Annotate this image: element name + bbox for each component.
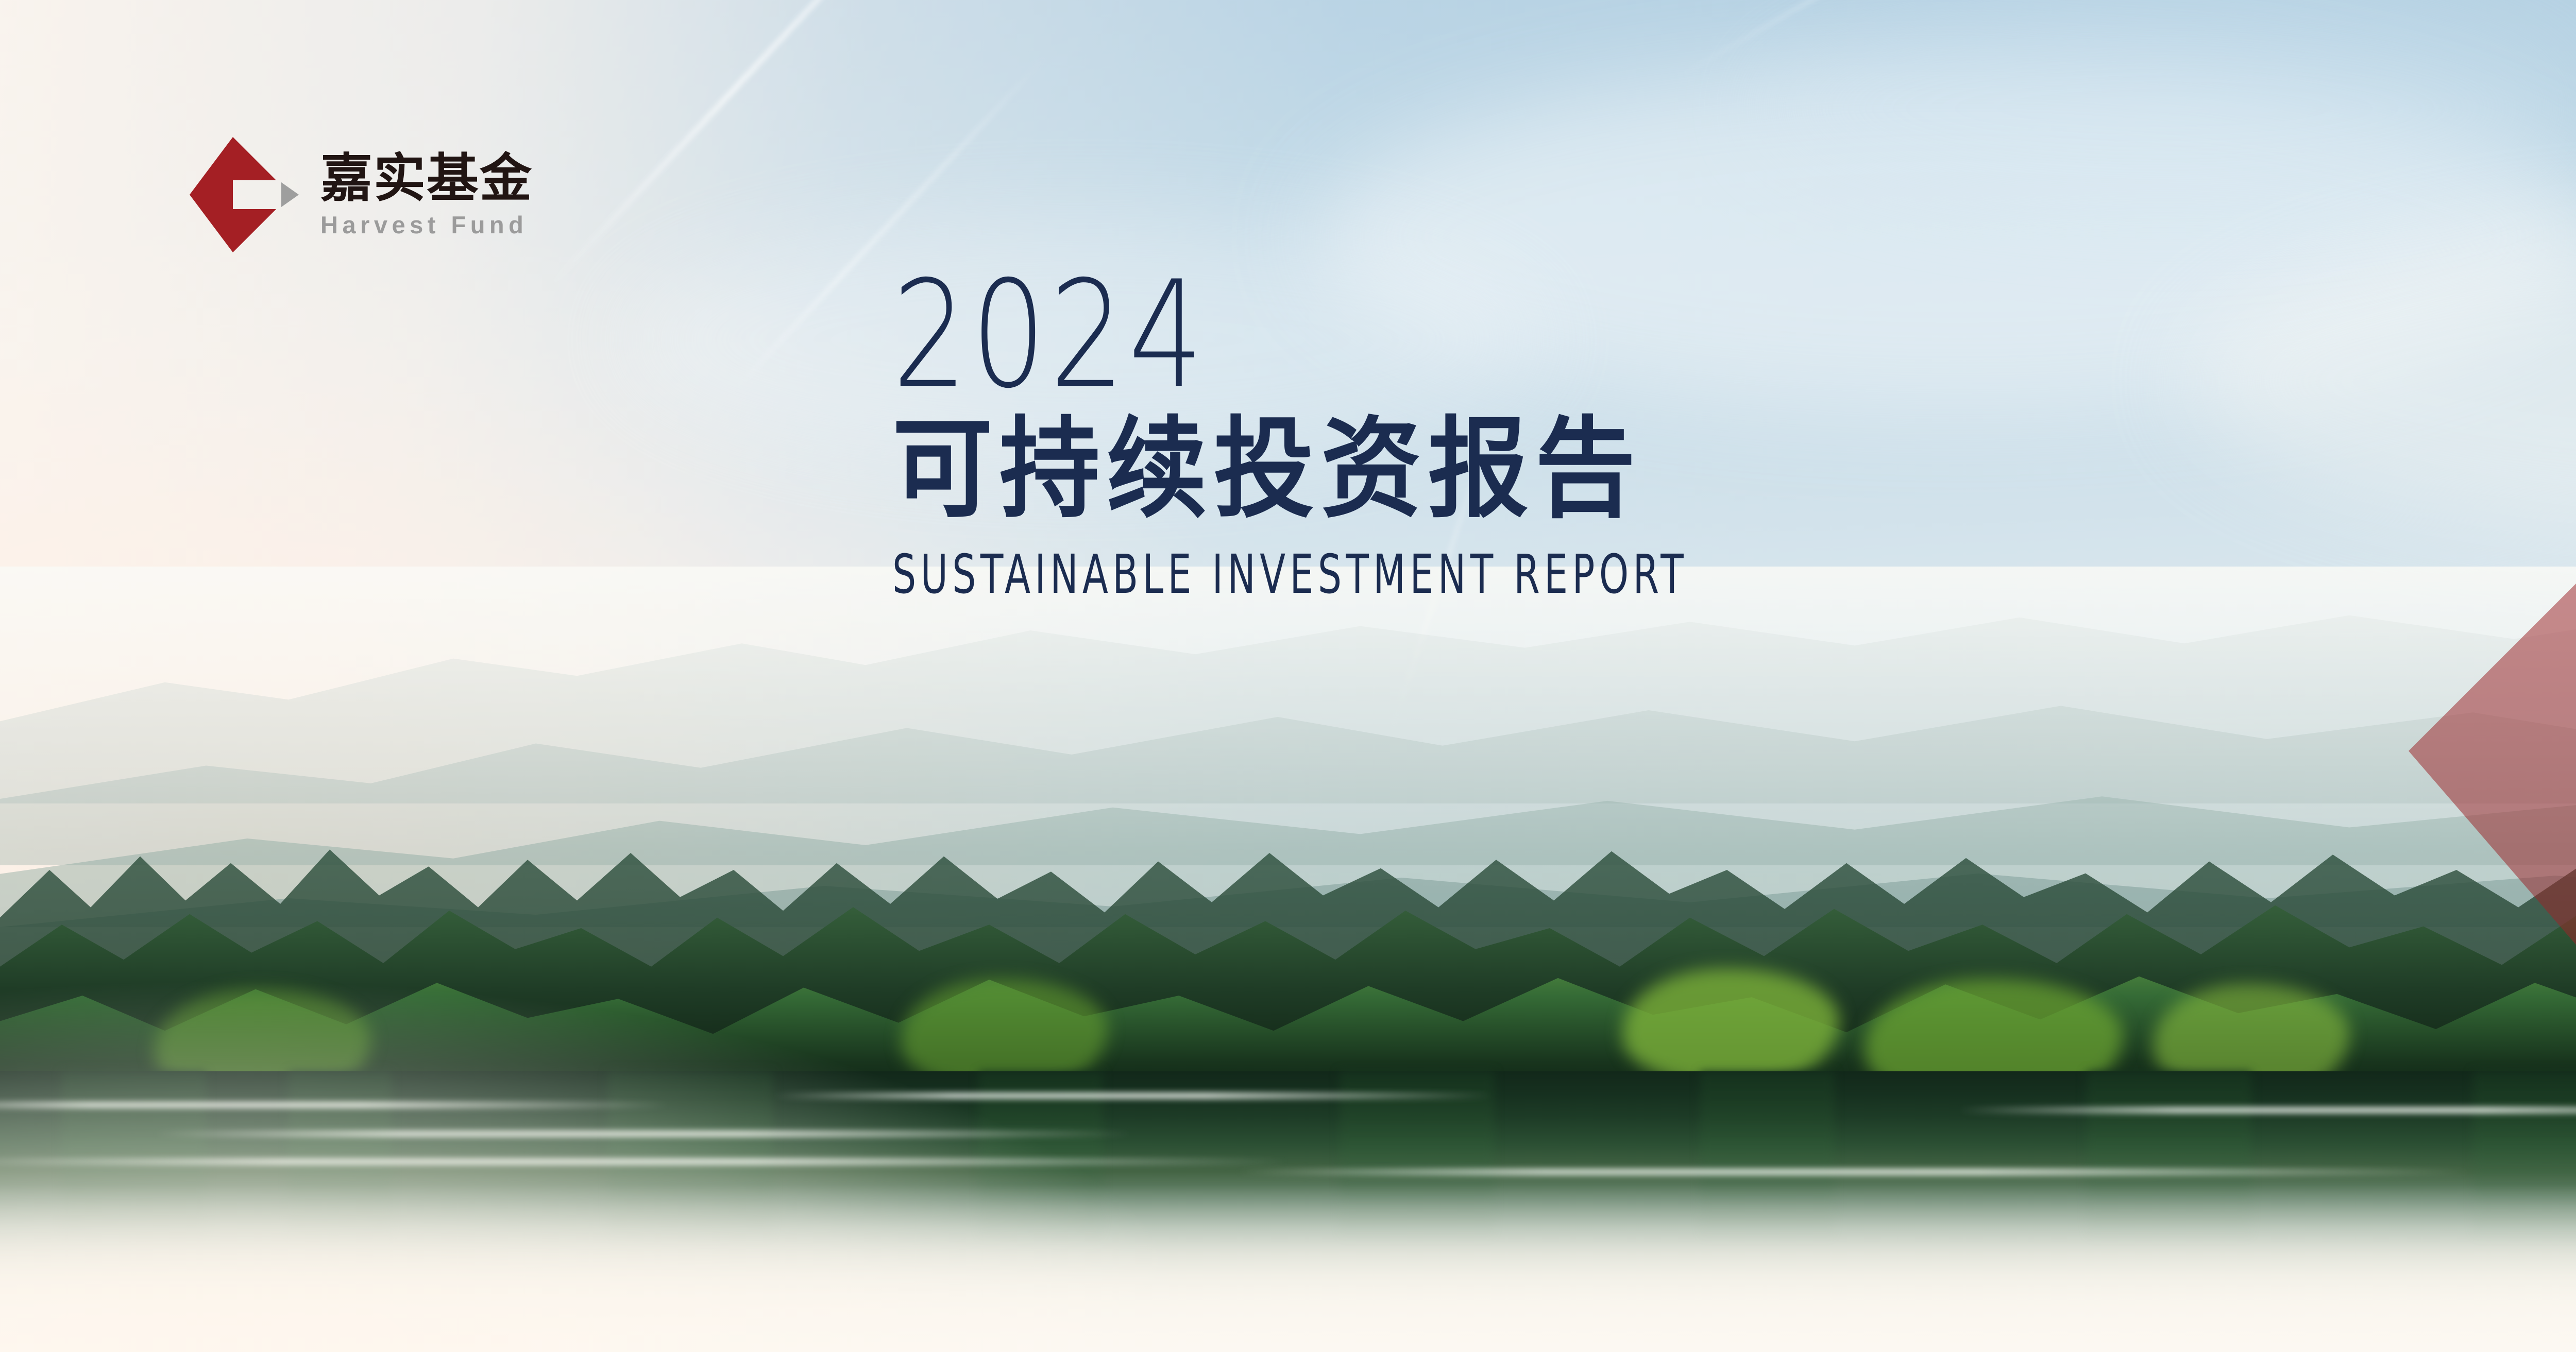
- brand-name-cn: 嘉实基金: [320, 152, 533, 204]
- brand-text: 嘉实基金 Harvest Fund: [320, 152, 533, 237]
- brand-name-en: Harvest Fund: [320, 213, 533, 237]
- cloud: [1752, 0, 2576, 216]
- water-ripple: [1958, 1107, 2576, 1113]
- warm-vignette: [0, 888, 1855, 1352]
- report-cover-banner: 嘉实基金 Harvest Fund 2024 可持续投资报告 SUSTAINAB…: [0, 0, 2576, 1352]
- title-block: 2024 可持续投资报告 SUSTAINABLE INVESTMENT REPO…: [892, 268, 2029, 601]
- report-title-cn: 可持续投资报告: [892, 415, 1938, 524]
- brand-logo: 嘉实基金 Harvest Fund: [190, 135, 533, 254]
- report-year: 2024: [892, 268, 1802, 403]
- report-subtitle-en: SUSTAINABLE INVESTMENT REPORT: [892, 547, 1688, 601]
- harvest-diamond-logo-icon: [190, 135, 301, 254]
